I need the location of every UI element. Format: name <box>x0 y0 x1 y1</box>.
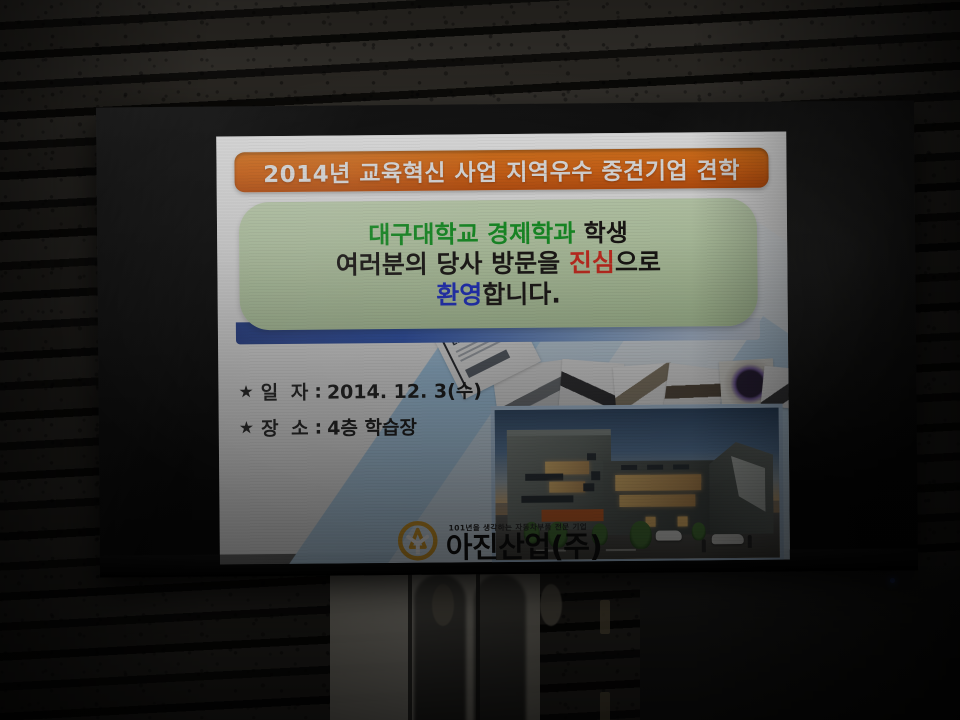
tv-screen[interactable]: Enjoy Changing ! 2014년 교육혁신 사업 지역우수 중견기업… <box>216 132 790 565</box>
door-hinge-lower <box>600 692 610 720</box>
window-b5 <box>673 464 689 469</box>
welcome-line-1-segment-1: 대구대학교 경제학과 <box>368 219 584 249</box>
slide-title-text: 2014년 교육혁신 사업 지역우수 중견기업 견학 <box>263 151 740 189</box>
road-marking-2 <box>606 549 636 551</box>
lower-wall-architecture <box>0 566 960 720</box>
door-mullion-left <box>408 574 412 720</box>
photo-scene: Enjoy Changing ! 2014년 교육혁신 사업 지역우수 중견기업… <box>0 0 960 720</box>
window-band-b1 <box>615 474 701 491</box>
welcome-line-2-segment-3: 으로 <box>615 248 661 277</box>
welcome-line-2-segment-2: 진심 <box>569 248 615 277</box>
window-band-a2 <box>525 474 563 481</box>
welcome-line-2: 여러분의 당사 방문을 진심으로 <box>336 248 661 281</box>
welcome-line-1-segment-2: 학생 <box>584 219 628 247</box>
window-b3 <box>621 465 637 470</box>
status-led-indicator <box>890 578 895 583</box>
logo-text-wrap: 101년을 생각하는 자동차부품 전문 기업 아진산업(주) <box>446 521 603 562</box>
star-icon: ★ <box>238 382 253 402</box>
logo-company-name: 아진산업(주) <box>446 533 603 562</box>
window-b7 <box>678 516 688 526</box>
door-handle-oval-left <box>432 584 454 626</box>
person-2 <box>748 535 752 548</box>
detail-label-place: 장 소 <box>261 414 312 441</box>
tree-4 <box>630 521 652 549</box>
welcome-line-3-segment-1: 환영 <box>436 280 482 309</box>
window-a6 <box>591 471 600 480</box>
window-band-a4 <box>521 495 573 502</box>
window-band-a3 <box>549 481 585 492</box>
welcome-message-box: 대구대학교 경제학과 학생 여러분의 당사 방문을 진심으로 환영합니다. <box>239 198 758 331</box>
detail-value-place: 4층 학습장 <box>327 413 417 441</box>
door-handle-oval-right <box>540 584 562 626</box>
door-reflection-figure-right <box>474 574 526 720</box>
car-1 <box>656 530 682 540</box>
glass-door-panel <box>640 566 960 720</box>
welcome-line-3-segment-2: 합니다. <box>482 279 561 309</box>
window-b4 <box>647 465 663 470</box>
slide-title-banner: 2014년 교육혁신 사업 지역우수 중견기업 견학 <box>234 148 768 193</box>
star-icon: ★ <box>239 418 254 438</box>
ajin-wheel-logo-icon <box>398 521 438 561</box>
detail-separator-date: : <box>314 380 322 402</box>
window-a5 <box>587 453 596 460</box>
detail-label-date: 일 자 <box>261 378 312 405</box>
welcome-line-3: 환영합니다. <box>436 279 561 311</box>
tree-5 <box>692 522 706 540</box>
door-hinge-upper <box>600 600 610 634</box>
welcome-line-2-segment-1: 여러분의 당사 방문을 <box>336 249 569 280</box>
window-a7 <box>583 483 594 491</box>
detail-value-date: 2014. 12. 3(수) <box>327 376 482 404</box>
detail-separator-place: : <box>314 416 322 438</box>
window-band-b2 <box>619 494 695 507</box>
detail-row-place: ★ 장 소 : 4층 학습장 <box>239 412 483 441</box>
event-details: ★ 일 자 : 2014. 12. 3(수) ★ 장 소 : 4층 학습장 <box>238 376 482 450</box>
detail-row-date: ★ 일 자 : 2014. 12. 3(수) <box>238 376 482 405</box>
person-1 <box>702 539 706 552</box>
company-logo-block: 101년을 생각하는 자동차부품 전문 기업 아진산업(주) <box>398 519 603 563</box>
car-2 <box>712 534 744 544</box>
welcome-line-1: 대구대학교 경제학과 학생 <box>368 219 628 251</box>
wall-mounted-tv[interactable]: Enjoy Changing ! 2014년 교육혁신 사업 지역우수 중견기업… <box>96 100 918 577</box>
